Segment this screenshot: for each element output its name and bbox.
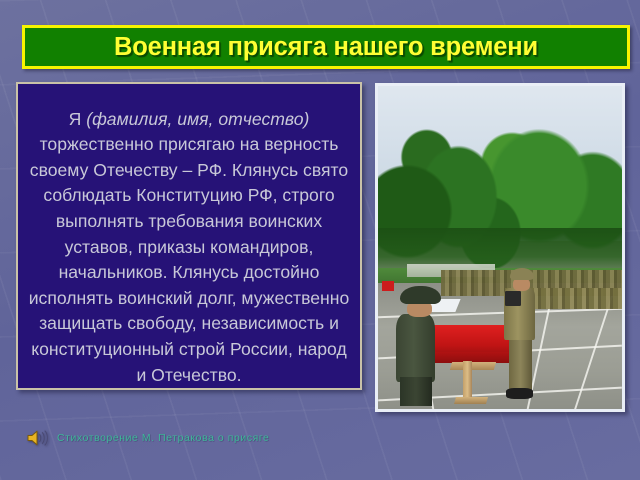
slide-title-banner: Военная присяга нашего времени [22, 25, 630, 69]
photo-soldier-cap [510, 268, 534, 280]
photo-oath-book [505, 291, 521, 306]
photo-officer-legs [400, 377, 432, 406]
oath-italic-placeholder: (фамилия, имя, отчество) [86, 109, 309, 129]
photo-stand-foot [454, 397, 488, 404]
oath-lead-word: Я [69, 109, 87, 129]
oath-text-panel: Я (фамилия, имя, отчество) торжественно … [16, 82, 362, 390]
oath-body: торжественно присягаю на верность своему… [29, 134, 350, 384]
speaker-icon[interactable] [26, 428, 48, 448]
photo-soldier-head [513, 278, 530, 291]
photo-officer-cap [400, 286, 441, 304]
photo-soldier-boots [506, 388, 533, 399]
photo-soldier-legs [509, 336, 532, 391]
sound-caption-label[interactable]: Стихотворение М. Петракова о присяге [57, 432, 269, 444]
photo-red-post [382, 281, 394, 291]
page-title: Военная присяга нашего времени [114, 33, 538, 62]
oath-text: Я (фамилия, имя, отчество) торжественно … [28, 107, 350, 389]
sound-caption-row[interactable]: Стихотворение М. Петракова о присяге [26, 428, 269, 448]
photo-officer [396, 314, 435, 382]
photo-content [378, 86, 622, 409]
photo-stand-leg [463, 361, 472, 400]
photo-stand-leg [450, 362, 496, 370]
presentation-slide: Военная присяга нашего времени Я (фамили… [0, 0, 640, 480]
oath-ceremony-photo [375, 83, 625, 412]
